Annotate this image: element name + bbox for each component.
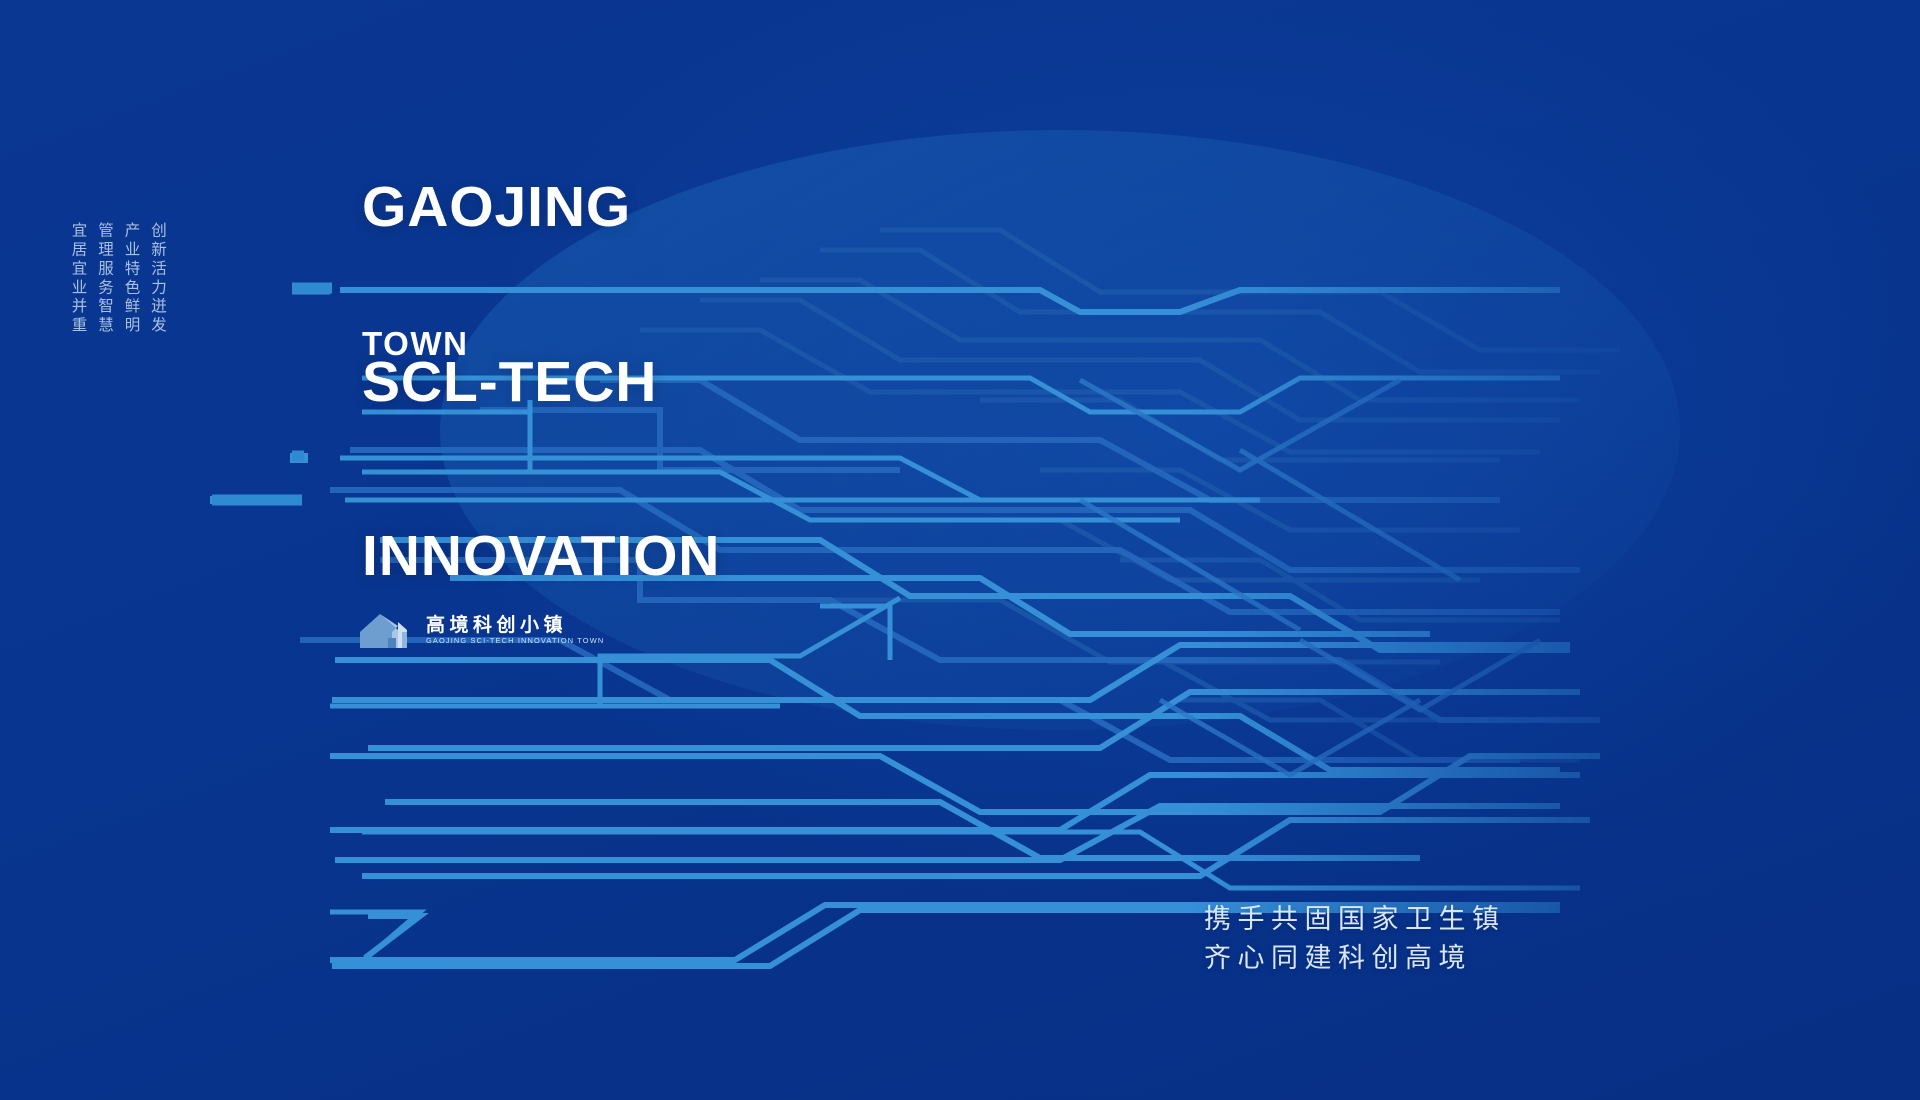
vertical-slogan-column-3: 管理服务智慧	[97, 222, 113, 382]
headline-line-3: INNOVATION	[362, 527, 720, 585]
logo: 高境科创小镇 GAOJING SCI-TECH INNOVATION TOWN	[358, 608, 604, 652]
logo-title-cn: 高境科创小镇	[426, 616, 604, 635]
vertical-slogan-column-4: 宜居宜业并重	[70, 222, 86, 382]
page-title: GAOJING SCL-TECH INNOVATION	[362, 62, 720, 701]
bottom-slogan-line-2: 齐心同建科创高境	[1204, 939, 1506, 978]
circuit-pattern	[0, 0, 1920, 1100]
vertical-slogan-column-2: 产业特色鲜明	[123, 222, 139, 382]
poster-canvas: GAOJING SCL-TECH INNOVATION TOWN 创新活力迸发 …	[0, 0, 1920, 1100]
logo-title-en: GAOJING SCI-TECH INNOVATION TOWN	[426, 637, 604, 644]
vertical-slogan-column-1: 创新活力迸发	[150, 222, 166, 382]
bottom-slogan: 携手共固国家卫生镇 齐心同建科创高境	[1204, 900, 1506, 978]
logo-text: 高境科创小镇 GAOJING SCI-TECH INNOVATION TOWN	[426, 616, 604, 644]
vertical-slogan: 创新活力迸发 产业特色鲜明 管理服务智慧 宜居宜业并重	[70, 222, 165, 382]
headline-subline: TOWN	[362, 325, 469, 363]
bottom-slogan-line-1: 携手共固国家卫生镇	[1204, 900, 1506, 939]
house-icon	[358, 608, 416, 652]
headline-line-1: GAOJING	[362, 178, 720, 236]
